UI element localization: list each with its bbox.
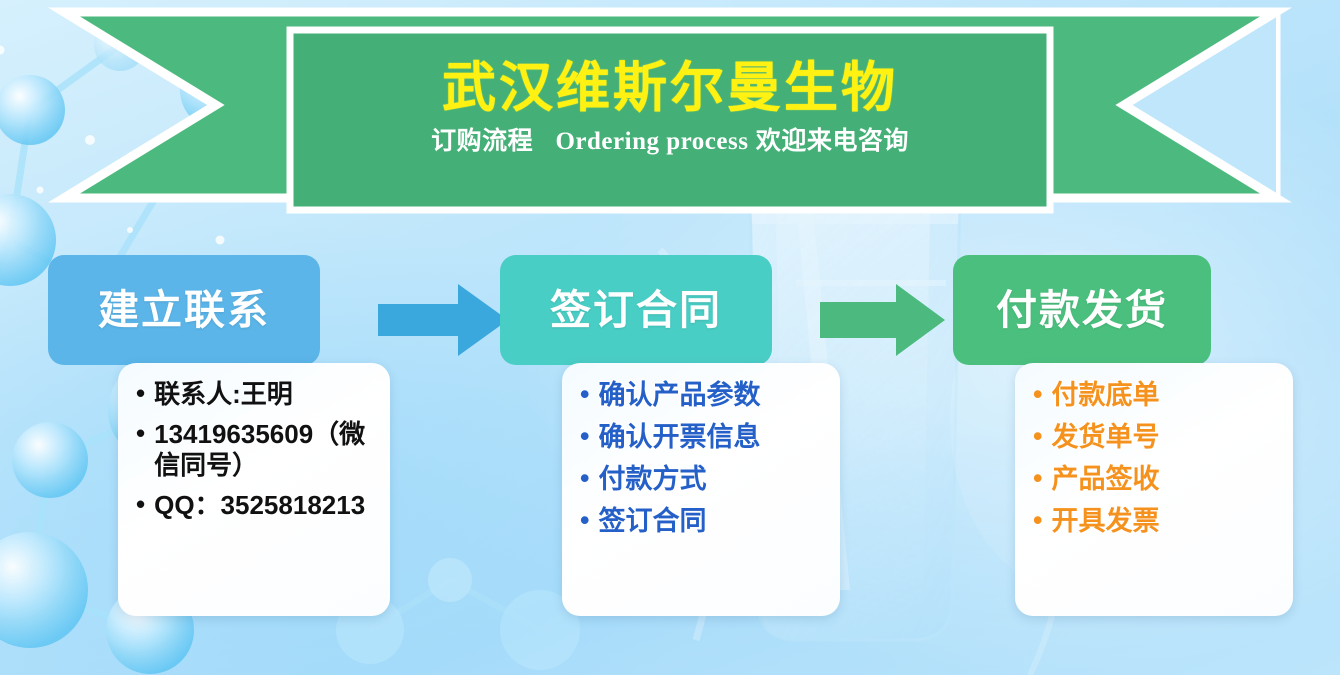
flow-step-2-header-label: 签订合同 xyxy=(550,290,722,331)
flow-step-3-list: • 付款底单 • 发货单号 • 产品签收 • 开具发票 xyxy=(1033,379,1279,538)
bullet-icon: • xyxy=(1033,463,1042,493)
list-item: • 确认开票信息 xyxy=(580,421,826,454)
list-item: • 13419635609（微信同号） xyxy=(136,419,376,482)
list-item: • 产品签收 xyxy=(1033,463,1279,496)
flow-step-3-body: • 付款底单 • 发货单号 • 产品签收 • 开具发票 xyxy=(1015,363,1293,616)
banner-ribbon xyxy=(0,0,1340,215)
flow-step-3-header: 付款发货 xyxy=(953,255,1211,365)
flow-step-2-item-1: 确认产品参数 xyxy=(598,379,760,412)
flow-step-2-header: 签订合同 xyxy=(500,255,772,365)
flow-step-2-list: • 确认产品参数 • 确认开票信息 • 付款方式 • 签订合同 xyxy=(580,379,826,538)
bullet-icon: • xyxy=(580,505,589,535)
bullet-icon: • xyxy=(1033,421,1042,451)
flow-step-card-1[interactable]: 建立联系 • 联系人:王明 • 13419635609（微信同号） • QQ：3… xyxy=(48,255,393,620)
list-item: • 付款方式 xyxy=(580,463,826,496)
list-item: • QQ：3525818213 xyxy=(136,490,376,522)
list-item: • 签订合同 xyxy=(580,505,826,538)
flow-step-3-item-2: 发货单号 xyxy=(1051,421,1159,454)
flow-step-1-body: • 联系人:王明 • 13419635609（微信同号） • QQ：352581… xyxy=(118,363,390,616)
bullet-icon: • xyxy=(136,379,145,408)
arrow-step1-to-step2 xyxy=(378,284,508,356)
bullet-icon: • xyxy=(1033,379,1042,409)
flow-step-3-item-1: 付款底单 xyxy=(1051,379,1159,412)
flow-step-2-item-2: 确认开票信息 xyxy=(598,421,760,454)
bullet-icon: • xyxy=(580,463,589,493)
flow-step-1-list: • 联系人:王明 • 13419635609（微信同号） • QQ：352581… xyxy=(136,379,376,522)
flow-step-1-header-label: 建立联系 xyxy=(98,290,270,331)
list-item: • 开具发票 xyxy=(1033,505,1279,538)
flow-step-1-header: 建立联系 xyxy=(48,255,320,365)
list-item: • 确认产品参数 xyxy=(580,379,826,412)
bullet-icon: • xyxy=(1033,505,1042,535)
arrow-step2-to-step3 xyxy=(820,284,945,356)
bullet-icon: • xyxy=(136,419,145,448)
flow-step-2-item-4: 签订合同 xyxy=(598,505,706,538)
poster-canvas: 武汉维斯尔曼生物 订购流程 Ordering process 欢迎来电咨询 建立… xyxy=(0,0,1340,675)
flow-step-1-item-3: QQ：3525818213 xyxy=(154,490,365,522)
bullet-icon: • xyxy=(580,379,589,409)
bullet-icon: • xyxy=(136,490,145,519)
list-item: • 发货单号 xyxy=(1033,421,1279,454)
flow-step-3-item-4: 开具发票 xyxy=(1051,505,1159,538)
flow-step-1-item-1: 联系人:王明 xyxy=(154,379,293,411)
flow-step-2-body: • 确认产品参数 • 确认开票信息 • 付款方式 • 签订合同 xyxy=(562,363,840,616)
flow-step-card-3[interactable]: 付款发货 • 付款底单 • 发货单号 • 产品签收 • 开具发票 xyxy=(953,255,1298,620)
flow-step-1-item-2: 13419635609（微信同号） xyxy=(154,419,376,482)
flow-step-3-header-label: 付款发货 xyxy=(996,290,1168,331)
flow-step-2-item-3: 付款方式 xyxy=(598,463,706,496)
ribbon-inner-plaque xyxy=(290,30,1050,210)
list-item: • 付款底单 xyxy=(1033,379,1279,412)
flow-step-3-item-3: 产品签收 xyxy=(1051,463,1159,496)
bullet-icon: • xyxy=(580,421,589,451)
list-item: • 联系人:王明 xyxy=(136,379,376,411)
flow-step-card-2[interactable]: 签订合同 • 确认产品参数 • 确认开票信息 • 付款方式 • 签订合同 xyxy=(500,255,845,620)
